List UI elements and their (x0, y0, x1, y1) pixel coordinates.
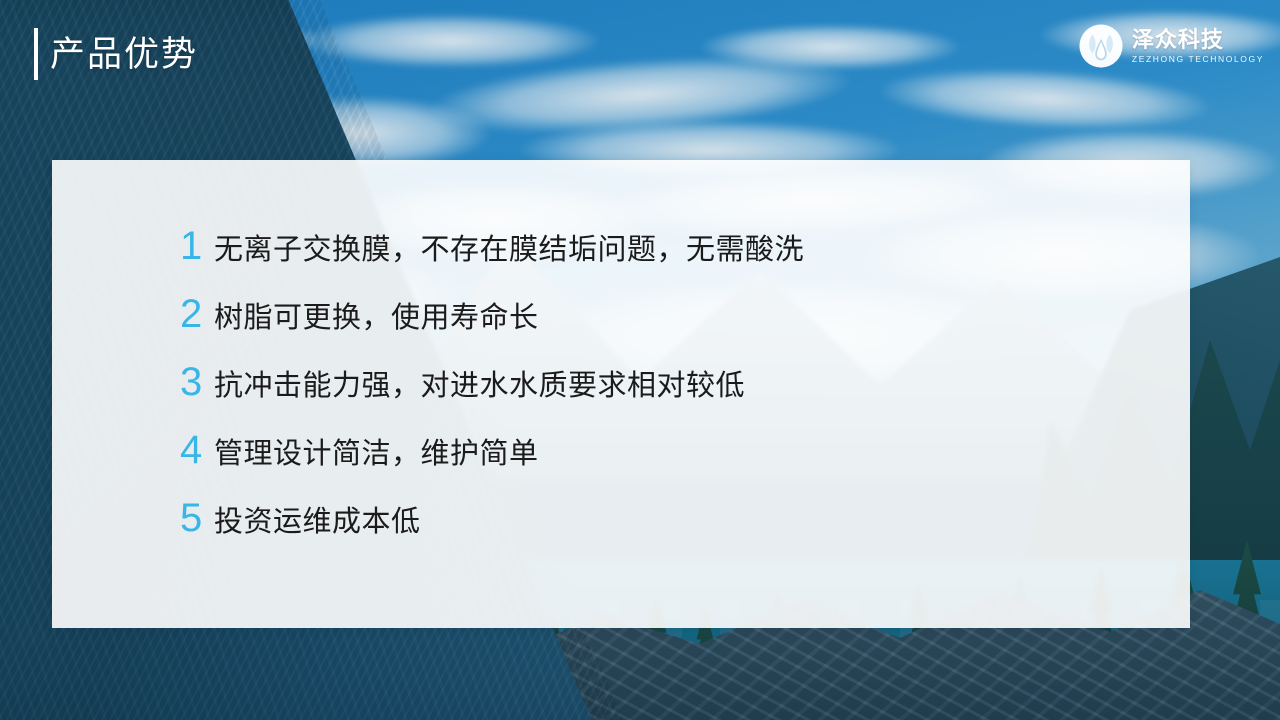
list-item-number: 3 (180, 362, 214, 402)
logo-name-cn: 泽众科技 (1132, 28, 1264, 52)
logo-name-en: ZEZHONG TECHNOLOGY (1132, 54, 1264, 64)
page-title: 产品优势 (34, 26, 198, 82)
list-item-text: 投资运维成本低 (214, 508, 421, 537)
list-item: 2 树脂可更换，使用寿命长 (180, 294, 1150, 362)
list-item-text: 无离子交换膜，不存在膜结垢问题，无需酸洗 (214, 236, 804, 265)
list-item-number: 2 (180, 294, 214, 334)
brand-logo: 泽众科技 ZEZHONG TECHNOLOGY (1078, 20, 1264, 72)
list-item-text: 抗冲击能力强，对进水水质要求相对较低 (214, 372, 745, 401)
content-panel: 1 无离子交换膜，不存在膜结垢问题，无需酸洗 2 树脂可更换，使用寿命长 3 抗… (52, 160, 1190, 628)
title-accent-bar (34, 28, 38, 80)
list-item-number: 1 (180, 226, 214, 266)
list-item: 4 管理设计简洁，维护简单 (180, 430, 1150, 498)
page-title-text: 产品优势 (50, 37, 198, 72)
list-item-number: 4 (180, 430, 214, 470)
logo-text-block: 泽众科技 ZEZHONG TECHNOLOGY (1132, 28, 1264, 64)
list-item-text: 管理设计简洁，维护简单 (214, 440, 539, 469)
list-item: 3 抗冲击能力强，对进水水质要求相对较低 (180, 362, 1150, 430)
advantages-list: 1 无离子交换膜，不存在膜结垢问题，无需酸洗 2 树脂可更换，使用寿命长 3 抗… (180, 226, 1150, 566)
list-item: 1 无离子交换膜，不存在膜结垢问题，无需酸洗 (180, 226, 1150, 294)
water-drop-lotus-logo-icon (1078, 23, 1124, 69)
list-item: 5 投资运维成本低 (180, 498, 1150, 566)
list-item-text: 树脂可更换，使用寿命长 (214, 304, 539, 333)
list-item-number: 5 (180, 498, 214, 538)
slide: 产品优势 泽众科技 ZEZHONG TECHNOLOGY 1 无离子交换膜，不存… (0, 0, 1280, 720)
